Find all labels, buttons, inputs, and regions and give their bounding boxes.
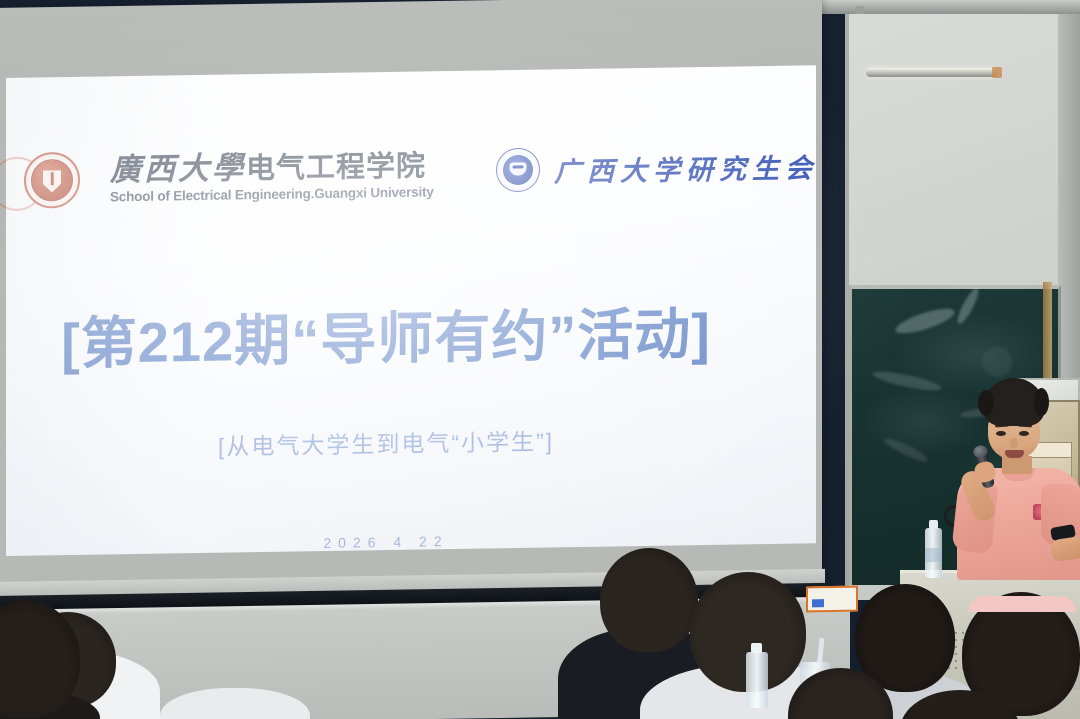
presentation-slide: 廣西大學电气工程学院 School of Electrical Engineer…: [6, 65, 816, 556]
fluorescent-tube-light-icon: [866, 68, 998, 77]
guangxi-university-seal-icon: [24, 152, 80, 209]
slide-header: 廣西大學电气工程学院 School of Electrical Engineer…: [16, 137, 806, 211]
bottle-label: [925, 548, 942, 562]
chalk-smudge: [893, 304, 957, 338]
eye-right: [1019, 431, 1029, 436]
chalk-smudge: [982, 347, 1012, 377]
university-name-cn: 廣西大學电气工程学院: [110, 149, 434, 187]
lectern-side-panel: [1040, 600, 1080, 690]
ledge-notice-sign: [806, 586, 858, 613]
chalk-smudge: [882, 435, 930, 465]
lower-wall: [0, 602, 850, 719]
graduate-union-block: 广西大学研究生会: [496, 143, 818, 192]
eye-left: [996, 431, 1006, 436]
light-mount: [855, 6, 865, 14]
graduate-union-name: 广西大学研究生会: [554, 146, 818, 189]
water-bottle: [925, 528, 942, 578]
university-name-calligraphy: 廣西大學: [110, 150, 246, 188]
nose: [1010, 438, 1018, 448]
presenter-hair: [983, 378, 1045, 426]
chalk-smudge: [872, 368, 943, 394]
lectern-speaker-grill: [918, 630, 964, 672]
graduate-union-emblem-icon: [496, 148, 540, 193]
slide-title: [第212期“导师有约”活动]: [6, 288, 766, 381]
presenter-right-hand: [1050, 536, 1080, 563]
presenter: [955, 378, 1080, 578]
university-name-block: 廣西大學电气工程学院 School of Electrical Engineer…: [110, 149, 434, 204]
mouth: [1005, 450, 1024, 458]
projection-screen-surface: 廣西大學电气工程学院 School of Electrical Engineer…: [6, 65, 816, 556]
chalk-smudge: [954, 286, 982, 326]
department-name-cn: 电气工程学院: [246, 150, 426, 185]
lecture-hall-photo: 廣西大學电气工程学院 School of Electrical Engineer…: [0, 0, 1080, 719]
slide-subtitle: [从电气大学生到电气“小学生”]: [6, 419, 766, 465]
